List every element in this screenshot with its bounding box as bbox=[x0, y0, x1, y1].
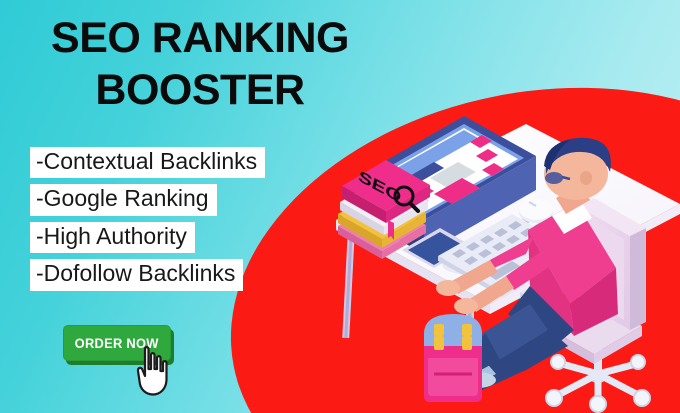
headline-line-2: BOOSTER bbox=[0, 64, 400, 116]
page-title: SEO RANKING BOOSTER bbox=[0, 12, 400, 117]
list-item: -Google Ranking bbox=[30, 184, 217, 215]
isometric-seo-workspace-illustration: SEO bbox=[330, 78, 680, 413]
list-item: -High Authority bbox=[30, 222, 195, 253]
headline-line-1: SEO RANKING bbox=[0, 12, 400, 64]
feature-list: -Contextual Backlinks -Google Ranking -H… bbox=[30, 147, 265, 291]
pointing-hand-cursor-icon bbox=[131, 345, 175, 397]
seo-ranking-booster-banner: SEO bbox=[0, 0, 680, 413]
cta-area: ORDER NOW bbox=[63, 325, 223, 395]
list-item: -Dofollow Backlinks bbox=[30, 259, 243, 290]
list-item: -Contextual Backlinks bbox=[30, 147, 265, 178]
backpack bbox=[424, 314, 482, 402]
